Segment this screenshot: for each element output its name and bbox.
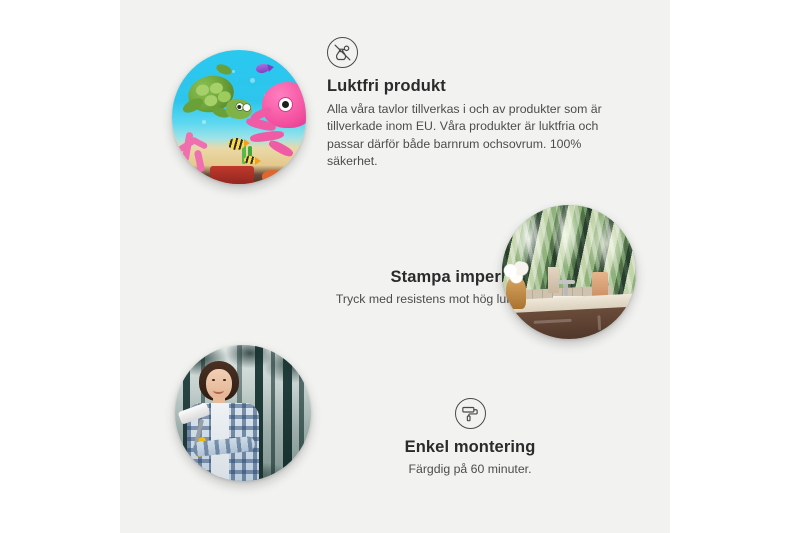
features-panel: Luktfri produkt Alla våra tavlor tillver… [120,0,670,533]
ocean-artwork [172,50,306,184]
feature-body: Färgdig på 60 minuter. [330,461,610,478]
feature-title: Enkel montering [330,438,610,457]
paint-roller-icon [455,398,486,429]
feature-title: Luktfri produkt [327,77,627,96]
feature-body: Alla våra tavlor tillverkas i och av pro… [327,101,615,171]
painter-artwork [175,345,311,481]
bathroom-artwork [502,205,636,339]
bathroom-botanical-wallpaper-thumbnail[interactable] [502,205,636,339]
painter-forest-wallpaper-thumbnail[interactable] [175,345,311,481]
feature-assembly: Enkel montering Färgdig på 60 minuter. [330,398,610,478]
no-fragrance-icon [327,37,358,68]
underwater-kids-mural-thumbnail[interactable] [172,50,306,184]
page-root: Luktfri produkt Alla våra tavlor tillver… [0,0,800,533]
feature-odourless: Luktfri produkt Alla våra tavlor tillver… [327,37,627,171]
